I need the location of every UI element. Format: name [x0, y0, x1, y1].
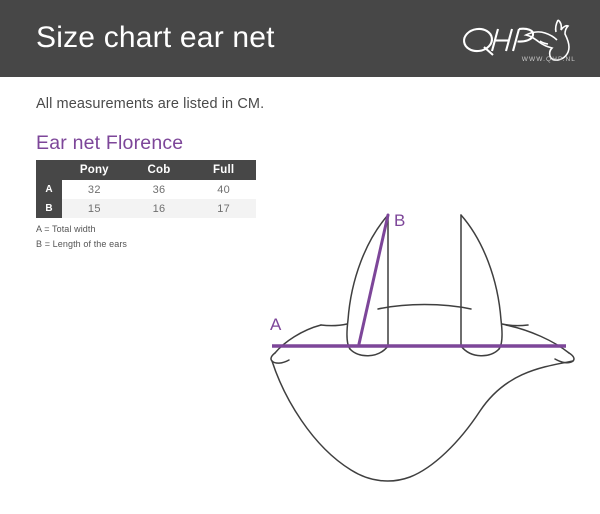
cell-b-pony: 15 [62, 199, 127, 218]
column-header-pony: Pony [62, 160, 127, 180]
table-row: A 32 36 40 [36, 180, 256, 199]
logo-website-text: WWW.QHP.NL [522, 56, 576, 63]
legend-item-a: A = Total width [36, 222, 127, 237]
left-tip [271, 353, 289, 363]
ear-bridge [378, 305, 471, 310]
table-corner-cell [36, 160, 62, 180]
page-title: Size chart ear net [36, 21, 275, 55]
cell-a-cob: 36 [127, 180, 192, 199]
cell-a-full: 40 [191, 180, 256, 199]
legend: A = Total width B = Length of the ears [36, 222, 127, 252]
diagram-label-b: B [394, 211, 405, 230]
table-header-row: Pony Cob Full [36, 160, 256, 180]
left-ear-to-crown [321, 324, 347, 326]
right-ear-to-crown [502, 324, 528, 326]
ear-net-diagram-svg: A B [258, 196, 588, 496]
legend-item-b: B = Length of the ears [36, 237, 127, 252]
measurement-units-note: All measurements are listed in CM. [36, 96, 264, 112]
crown-right-edge [506, 325, 569, 353]
left-ear-outer-edge [347, 215, 388, 349]
column-header-cob: Cob [127, 160, 192, 180]
right-ear-outer-edge [461, 215, 502, 349]
row-label-a: A [36, 180, 62, 199]
ear-net-diagram: A B [258, 196, 588, 496]
cell-b-cob: 16 [127, 199, 192, 218]
cell-b-full: 17 [191, 199, 256, 218]
page-header: Size chart ear net WWW.QHP.NL [0, 0, 600, 77]
crown-left-edge [275, 325, 321, 353]
bonnet-bottom-drape [272, 361, 573, 481]
row-label-b: B [36, 199, 62, 218]
size-chart-table: Pony Cob Full A 32 36 40 B 15 16 17 [36, 160, 256, 218]
table-row: B 15 16 17 [36, 199, 256, 218]
product-title: Ear net Florence [36, 132, 183, 155]
diagram-label-a: A [270, 315, 282, 334]
cell-a-pony: 32 [62, 180, 127, 199]
column-header-full: Full [191, 160, 256, 180]
